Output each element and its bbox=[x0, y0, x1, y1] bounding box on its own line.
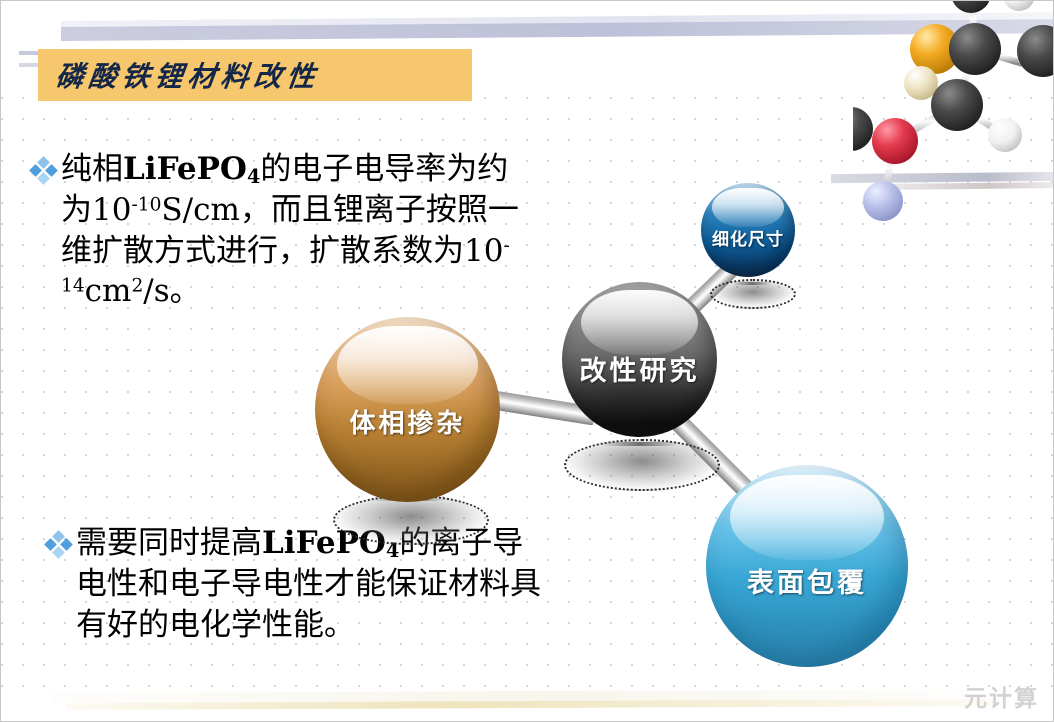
atom-oxygen bbox=[872, 118, 918, 164]
connector-rod-center-bulk bbox=[470, 387, 596, 425]
atom-carbon-1 bbox=[949, 23, 1001, 75]
node-surface-coating-label: 表面包覆 bbox=[747, 561, 867, 600]
diamond-cluster-bullet-icon bbox=[31, 158, 57, 184]
shadow-bar-size bbox=[733, 282, 771, 285]
atom-carbon-right bbox=[1017, 25, 1053, 77]
node-bulk-doping-label: 体相掺杂 bbox=[349, 403, 465, 440]
bullet-1-text: 纯相LiFePO4的电子电导率为约为10-10S/cm，而且锂离子按照一维扩散方… bbox=[61, 149, 531, 311]
connector-rod-center-size bbox=[673, 249, 751, 325]
atom-nitrogen bbox=[863, 181, 903, 221]
atom-cream bbox=[904, 66, 938, 100]
ball-and-stick-molecule-icon bbox=[853, 1, 1053, 241]
atom-carbon-top bbox=[951, 1, 991, 13]
atom-hydrogen-right bbox=[988, 118, 1022, 152]
bullet-2-text: 需要同时提高LiFePO4的离子导电性和电子导电性才能保证材料具有好的电化学性能… bbox=[76, 523, 546, 645]
connector-rod-center-coat bbox=[670, 414, 754, 498]
node-surface-coating: 表面包覆 bbox=[706, 465, 908, 667]
bullet-item-1: 纯相LiFePO4的电子电导率为约为10-10S/cm，而且锂离子按照一维扩散方… bbox=[31, 149, 531, 311]
shadow-ellipse-size bbox=[710, 279, 796, 309]
atom-carbon-left bbox=[853, 107, 873, 151]
diamond-cluster-bullet-icon bbox=[46, 532, 72, 558]
shadow-bar-bulk bbox=[373, 497, 445, 501]
watermark-text: 元计算 bbox=[964, 679, 1039, 713]
page-title: 磷酸铁锂材料改性 bbox=[54, 55, 323, 95]
atom-hydrogen-topright bbox=[1003, 1, 1035, 11]
node-modification-research-label: 改性研究 bbox=[580, 349, 700, 388]
slide-canvas: 磷酸铁锂材料改性 纯相LiFePO4的电子电导率为约为10-10S/cm，而且锂… bbox=[0, 0, 1054, 722]
node-size-refinement: 细化尺寸 bbox=[701, 183, 795, 277]
title-banner: 磷酸铁锂材料改性 bbox=[38, 49, 472, 101]
shadow-ellipse-center bbox=[564, 439, 720, 491]
node-bulk-doping: 体相掺杂 bbox=[315, 317, 500, 502]
node-modification-research: 改性研究 bbox=[562, 282, 717, 437]
bullet-item-2: 需要同时提高LiFePO4的离子导电性和电子导电性才能保证材料具有好的电化学性能… bbox=[46, 523, 546, 645]
atom-carbon-2 bbox=[931, 79, 983, 131]
shadow-bar-center bbox=[601, 442, 679, 446]
node-size-refinement-label: 细化尺寸 bbox=[712, 225, 784, 250]
